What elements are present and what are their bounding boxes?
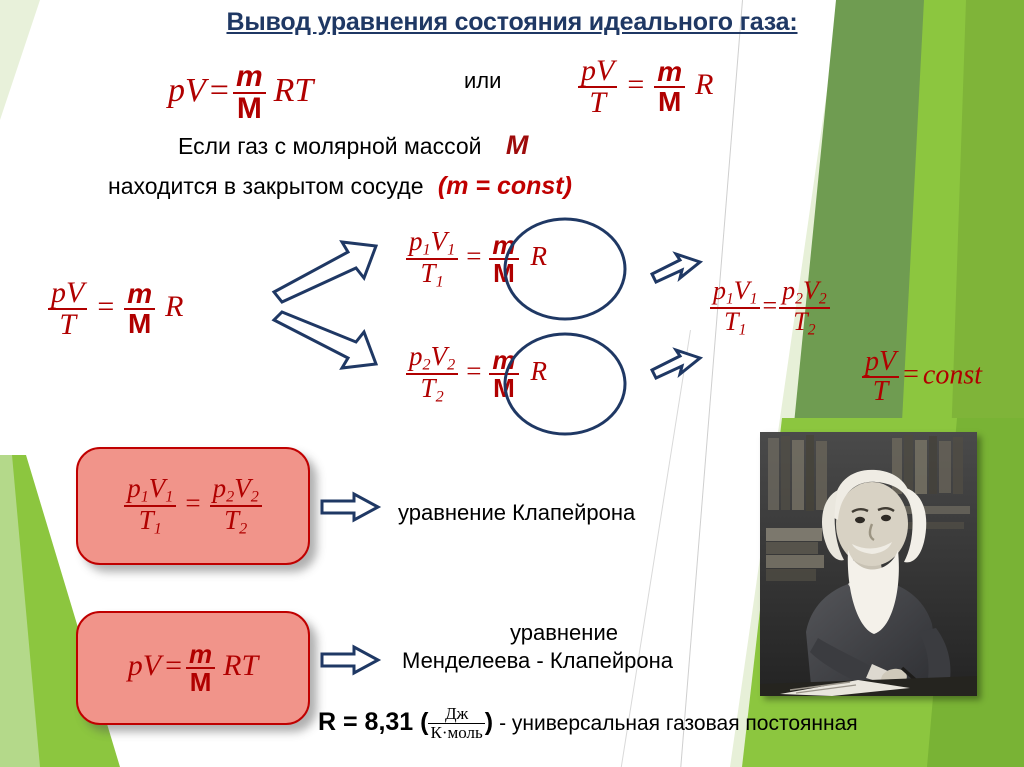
fraction-denominator-T: T bbox=[578, 86, 617, 118]
label-mendeleev-line1: уравнение bbox=[510, 620, 618, 646]
symbol-RT: RT bbox=[215, 649, 258, 682]
arrow-to-clapeyron-label bbox=[320, 492, 382, 524]
fraction-numerator-p1V1: p1V1 bbox=[124, 475, 176, 505]
fraction-denominator-T1: T1 bbox=[124, 505, 176, 537]
equals-sign: = bbox=[176, 488, 209, 518]
fraction-denominator-T2: T2 bbox=[779, 307, 829, 338]
fraction-numerator-p1V1: p1V1 bbox=[406, 228, 458, 258]
equals-sign: = bbox=[87, 290, 124, 323]
universal-gas-constant-line: R = 8,31 ( Дж К·моль )- универсальная га… bbox=[318, 705, 858, 742]
formula-pv-over-T-eq-m-over-M-R: pV T = m M R bbox=[578, 56, 713, 118]
fraction-p1V1-over-T1: p1V1 T1 bbox=[124, 475, 176, 536]
fraction-p2V2-over-T2: p2V2 T2 bbox=[779, 278, 829, 338]
fraction-m-over-M: m M bbox=[186, 641, 215, 695]
symbol-R: R bbox=[685, 68, 713, 101]
formula-box-clapeyron: p1V1 T1 = p2V2 T2 bbox=[124, 475, 262, 536]
fraction-m-over-M: m M bbox=[124, 280, 155, 338]
constant-description: - универсальная газовая постоянная bbox=[493, 712, 858, 735]
fraction-pV-over-T: pV T bbox=[578, 56, 617, 118]
label-or: или bbox=[464, 68, 501, 94]
fraction-numerator-m: m bbox=[654, 58, 685, 86]
fraction-numerator-p2V2: p2V2 bbox=[406, 343, 458, 373]
equals-sign: = bbox=[206, 72, 233, 109]
formula-combined-clapeyron: p1V1 T1 = p2V2 T2 bbox=[710, 278, 830, 338]
arrow-to-mendeleev-label bbox=[320, 645, 382, 677]
formula-pv-eq-m-over-M-RT: pV= m M RT bbox=[168, 62, 313, 124]
symbol-RT: RT bbox=[266, 72, 314, 109]
equals-sign: = bbox=[458, 356, 489, 386]
fraction-pV-over-T: pV T bbox=[862, 348, 899, 406]
fraction-numerator-p2V2: p2V2 bbox=[779, 278, 829, 307]
fraction-numerator-m: m bbox=[233, 62, 266, 92]
fraction-numerator-p1V1: p1V1 bbox=[710, 278, 760, 307]
symbol-molar-mass-M: M bbox=[488, 130, 529, 160]
box-clapeyron-equation: p1V1 T1 = p2V2 T2 bbox=[76, 447, 310, 565]
condition-text-2: находится в закрытом сосуде bbox=[108, 173, 424, 199]
symbol-V: V bbox=[143, 649, 161, 682]
fraction-p2V2-over-T2: p2V2 T2 bbox=[210, 475, 262, 536]
fraction-denominator-M: M bbox=[124, 308, 155, 338]
unit-numerator: Дж bbox=[428, 705, 484, 723]
equals-sign: = bbox=[617, 68, 654, 101]
symbol-V: V bbox=[185, 72, 206, 109]
slide-canvas: Вывод уравнения состояния идеального газ… bbox=[0, 0, 1024, 767]
fraction-p1V1-over-T1: p1V1 T1 bbox=[406, 228, 458, 289]
fraction-denominator-M: M bbox=[186, 667, 215, 695]
fraction-denominator-T: T bbox=[862, 376, 899, 406]
unit-denominator: К·моль bbox=[428, 723, 484, 742]
fraction-numerator-pV: pV bbox=[48, 278, 87, 308]
ellipse-highlight-state2 bbox=[502, 331, 628, 437]
unit-fraction-J-per-K-mol: Дж К·моль bbox=[428, 705, 484, 742]
condition-text-1: Если газ с молярной массой bbox=[178, 133, 481, 159]
fraction-denominator-T: T bbox=[48, 308, 87, 340]
value-const: const bbox=[923, 359, 982, 390]
fraction-m-over-M: m M bbox=[233, 62, 266, 124]
portrait-illustration bbox=[760, 432, 977, 696]
symbol-p: p bbox=[128, 649, 143, 682]
fraction-denominator-M: M bbox=[233, 92, 266, 124]
fraction-p2V2-over-T2: p2V2 T2 bbox=[406, 343, 458, 404]
condition-line-2: находится в закрытом сосуде (m = const) bbox=[108, 172, 572, 201]
symbol-R: R bbox=[155, 290, 183, 323]
fraction-denominator-T2: T2 bbox=[210, 505, 262, 537]
fraction-numerator-pV: pV bbox=[862, 348, 899, 376]
equals-sign: = bbox=[899, 359, 923, 390]
symbol-p: p bbox=[168, 72, 185, 109]
fraction-m-over-M: m M bbox=[654, 58, 685, 116]
fraction-denominator-T2: T2 bbox=[406, 373, 458, 405]
equals-sign: = bbox=[760, 291, 779, 320]
constant-suffix: ) bbox=[485, 708, 493, 736]
equals-sign: = bbox=[161, 649, 186, 682]
label-mendeleev-line2: Менделеева - Клапейрона bbox=[402, 648, 673, 674]
fraction-p1V1-over-T1: p1V1 T1 bbox=[710, 278, 760, 338]
arrow-merge-upper bbox=[650, 252, 704, 286]
fraction-denominator-T1: T1 bbox=[710, 307, 760, 338]
formula-pv-over-T-const: pV T =const bbox=[862, 348, 982, 406]
ellipse-highlight-state1 bbox=[502, 216, 628, 322]
formula-left-pv-over-T: pV T = m M R bbox=[48, 278, 183, 340]
portrait-mendeleev bbox=[760, 432, 977, 696]
arrow-branch-down bbox=[272, 312, 382, 374]
emphasis-m-equals-const: (m = const) bbox=[430, 172, 572, 200]
page-title: Вывод уравнения состояния идеального газ… bbox=[0, 8, 1024, 37]
fraction-numerator-pV: pV bbox=[578, 56, 617, 86]
fraction-numerator-m: m bbox=[124, 280, 155, 308]
label-clapeyron-equation: уравнение Клапейрона bbox=[398, 500, 635, 526]
box-mendeleev-clapeyron-equation: pV= m M RT bbox=[76, 611, 310, 725]
formula-box-mendeleev: pV= m M RT bbox=[128, 641, 258, 695]
fraction-denominator-M: M bbox=[654, 86, 685, 116]
fraction-numerator-m: m bbox=[186, 641, 215, 667]
constant-prefix: R = 8,31 ( bbox=[318, 708, 428, 736]
fraction-pV-over-T: pV T bbox=[48, 278, 87, 340]
condition-line-1: Если газ с молярной массой M bbox=[178, 130, 528, 161]
fraction-numerator-p2V2: p2V2 bbox=[210, 475, 262, 505]
fraction-denominator-T1: T1 bbox=[406, 258, 458, 290]
equals-sign: = bbox=[458, 241, 489, 271]
arrow-merge-lower bbox=[650, 348, 704, 382]
arrow-branch-up bbox=[272, 240, 382, 300]
